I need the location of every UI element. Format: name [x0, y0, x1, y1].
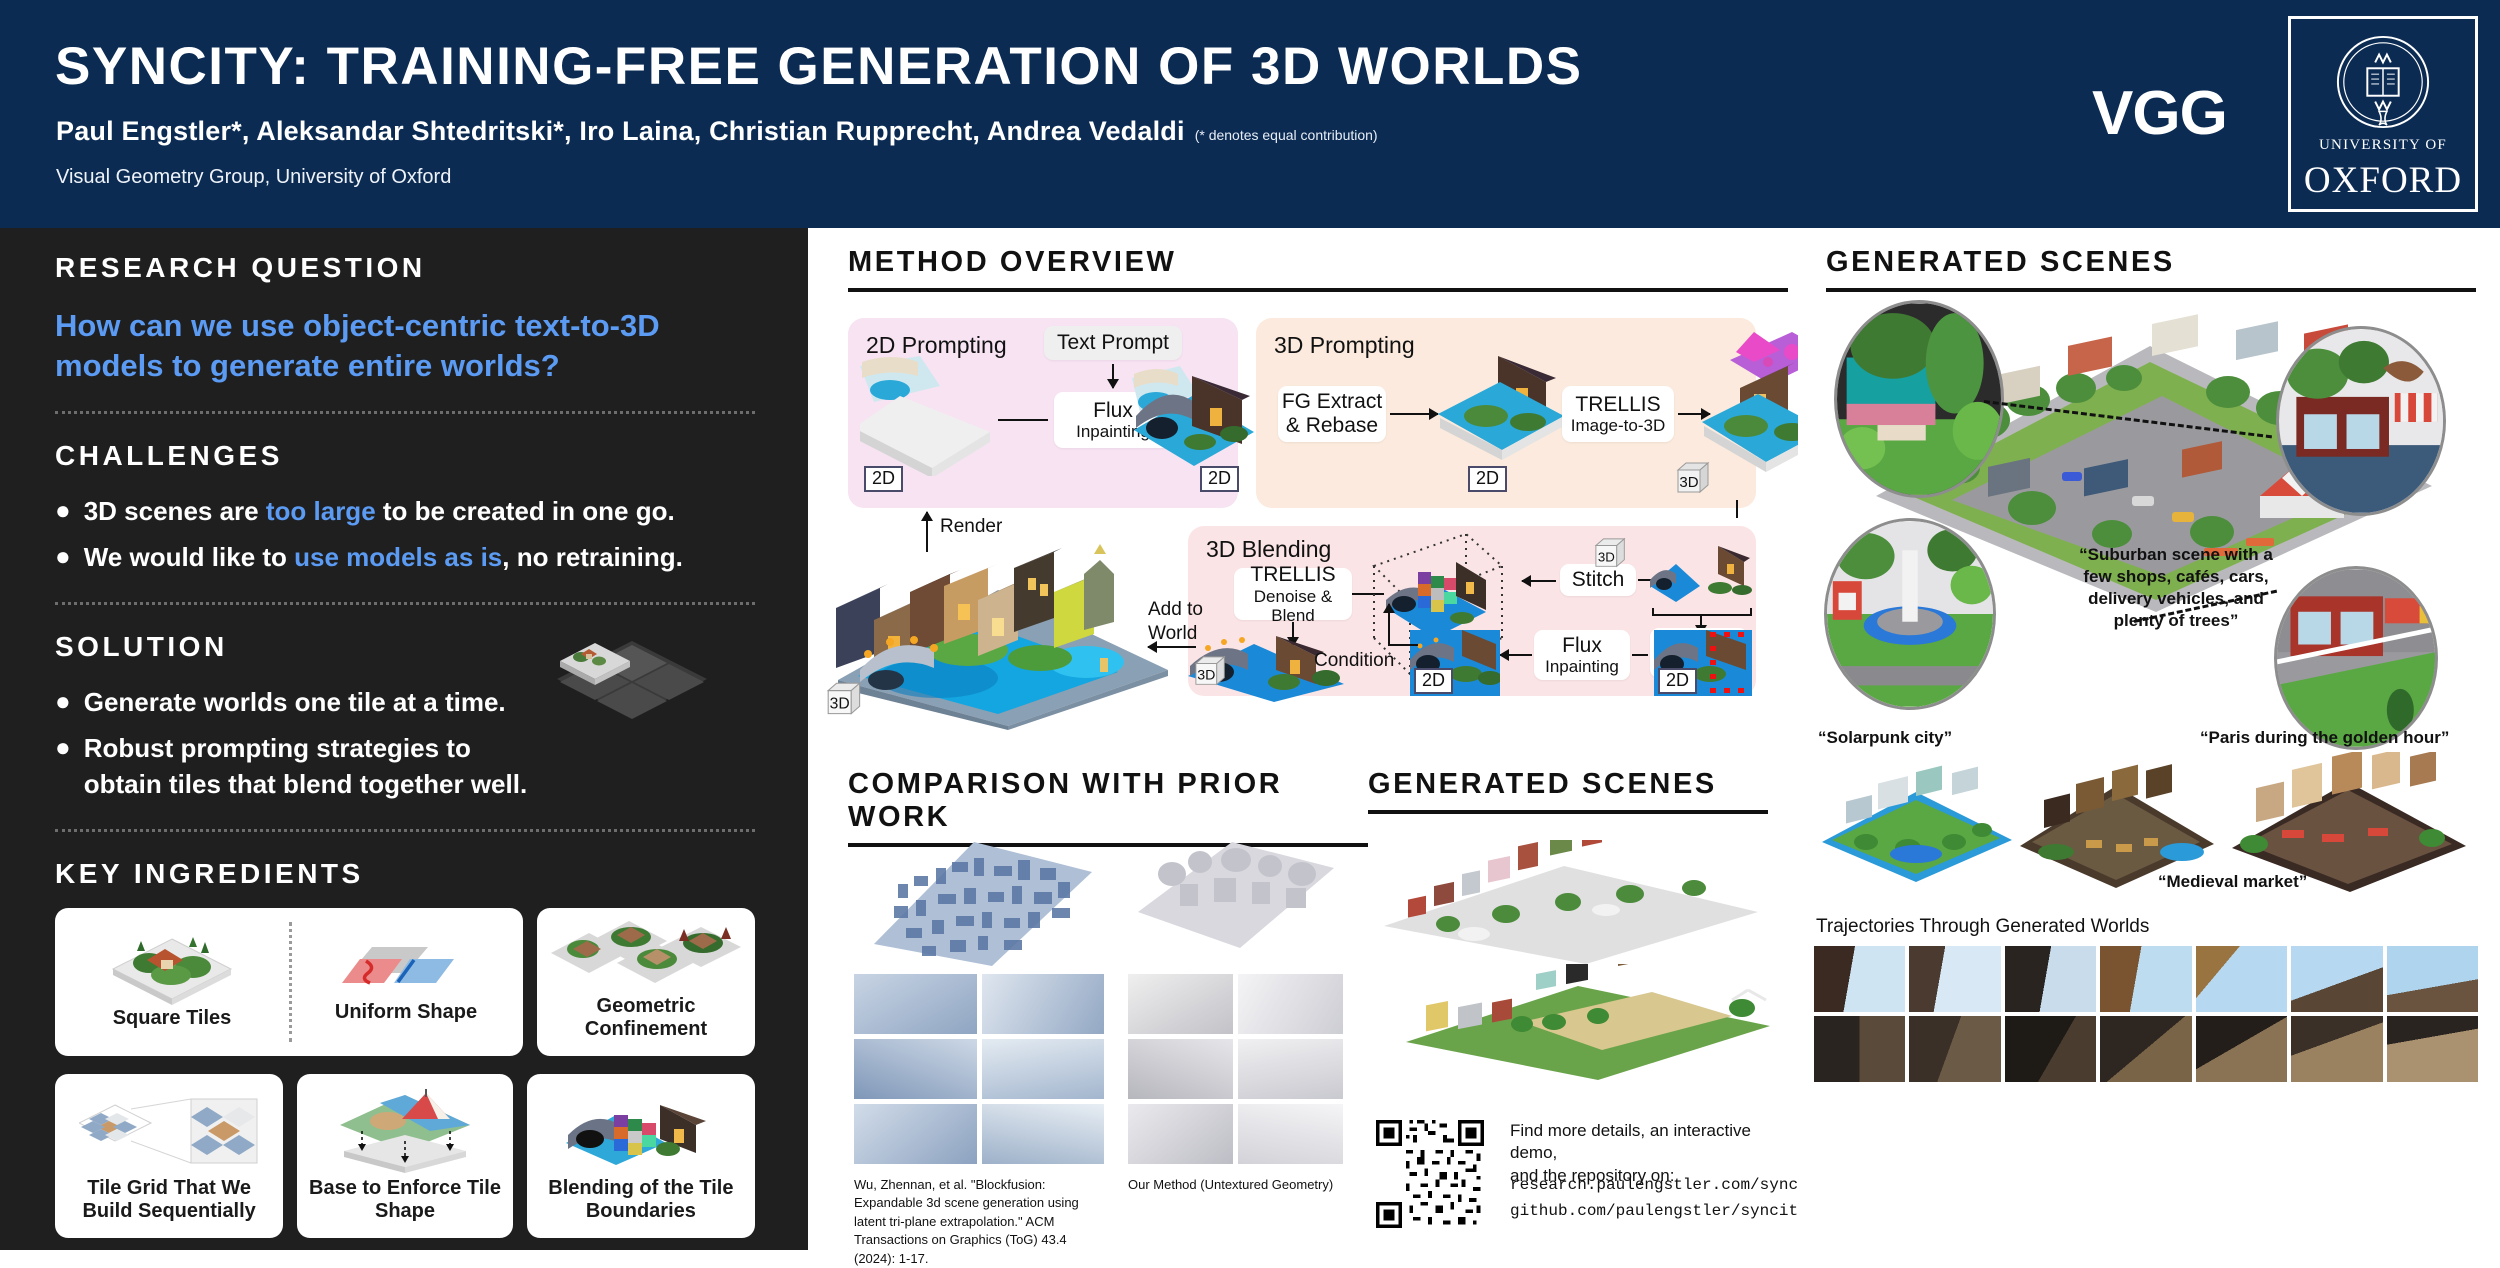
badge-3d-cube-icon: 3D — [824, 680, 868, 720]
oxford-university-label: UNIVERSITY OF — [2291, 137, 2475, 154]
tile-grid-thumbnail-icon — [537, 631, 727, 736]
generated-town-strip-art-2 — [1402, 964, 1782, 1084]
empty-tile-art — [860, 356, 1010, 476]
trellis-line2: Image-to-3D — [1571, 416, 1665, 435]
add-to-world-line2: World — [1148, 622, 1203, 646]
solution-text: Generate worlds one tile at a time. — [84, 685, 506, 721]
comparison-thumb — [1128, 1039, 1233, 1099]
trajectory-frame — [2005, 946, 2096, 1012]
add-to-world-label: Add to World — [1148, 598, 1203, 646]
research-question-line-1: How can we use object-centric text-to-3D — [55, 306, 755, 346]
challenge-item: ● We would like to use models as is, no … — [55, 540, 755, 576]
ingredient-card-base-enforce[interactable]: Base to Enforce Tile Shape — [297, 1074, 513, 1238]
arrow-left-add-to-world — [1148, 646, 1196, 648]
connector-crop — [1736, 500, 1738, 518]
trajectory-frame — [2196, 1016, 2287, 1082]
add-to-world-line1: Add to — [1148, 598, 1203, 622]
bracket-line — [1652, 614, 1752, 616]
left-column: RESEARCH QUESTION How can we use object-… — [0, 228, 808, 1250]
blending-boundaries-icon — [556, 1091, 726, 1171]
fg-extract-line2: & Rebase — [1286, 414, 1378, 438]
ingredients-row-2: Tile Grid That We Build Sequentially — [55, 1074, 755, 1238]
ingredient-card-geometric-confinement[interactable]: Geometric Confinement — [537, 908, 755, 1056]
challenge-text-highlight: too large — [266, 496, 376, 526]
shop-closeup-art — [2279, 329, 2443, 513]
ingredients-row-1: Square Tiles Uniform Shape — [55, 908, 755, 1056]
geometric-confinement-icon — [551, 913, 741, 995]
flux-inpainting-chip-blend: Flux Inpainting — [1534, 630, 1630, 680]
flux-blend-line1: Flux — [1562, 634, 1602, 658]
arrow-up-condition — [1388, 604, 1390, 646]
arrow-right-fg — [1390, 413, 1438, 415]
oxford-crest-icon — [2334, 33, 2432, 131]
comparison-thumb — [854, 974, 977, 1034]
tile-grid-icon — [79, 1091, 259, 1171]
connector-line — [1388, 644, 1418, 646]
qr-code-icon[interactable] — [1376, 1120, 1484, 1228]
ingredient-label: Uniform Shape — [335, 1001, 477, 1025]
arrow-left-flux — [1500, 654, 1532, 656]
divider — [55, 411, 755, 414]
bullet-icon: ● — [55, 685, 71, 721]
find-more-line1: Find more details, an interactive demo, — [1510, 1120, 1790, 1165]
poster-root: SYNCITY: TRAINING-FREE GENERATION OF 3D … — [0, 0, 2500, 1250]
research-question-line-2: models to generate entire worlds? — [55, 346, 755, 386]
badge-3d-cube-icon: 3D — [1192, 654, 1232, 690]
method-overview-heading: METHOD OVERVIEW — [848, 246, 1788, 279]
right-column: GENERATED SCENES — [1798, 228, 2500, 1250]
rebased-tile-art — [1432, 352, 1572, 482]
arrow-down-to-flux — [1112, 364, 1114, 388]
ingredient-label: Square Tiles — [113, 1007, 232, 1031]
comparison-thumb — [1238, 1039, 1343, 1099]
comparison-thumb — [1238, 1104, 1343, 1164]
callout-oval-cafe — [1834, 300, 2004, 498]
arrow-left-stitch — [1522, 580, 1556, 582]
badge-2d-condition: 2D — [1414, 668, 1453, 694]
trajectory-frame-grid — [1814, 946, 2478, 1082]
challenge-text-pre: We would like to — [84, 542, 294, 572]
panel-3d-prompting: 3D Prompting FG Extract & Rebase 2D TREL… — [1256, 318, 1756, 508]
fountain-closeup-art — [1827, 521, 1993, 707]
trajectory-frame — [2387, 946, 2478, 1012]
challenge-text-post: to be created in one go. — [376, 496, 675, 526]
challenge-item: ● 3D scenes are too large to be created … — [55, 494, 755, 530]
badge-3d-cube-icon: 3D — [1674, 460, 1716, 498]
badge-2d-rebased: 2D — [1468, 466, 1507, 492]
affiliation: Visual Geometry Group, University of Oxf… — [56, 166, 451, 189]
panel-3d-blending: 3D Blending TRELLIS Denoise & Blend — [1188, 526, 1756, 696]
comparison-grid-right — [1128, 974, 1343, 1164]
world-scene-art — [818, 530, 1188, 730]
bullet-icon: ● — [55, 540, 71, 576]
page-title: SYNCITY: TRAINING-FREE GENERATION OF 3D … — [55, 40, 1582, 93]
comparison-thumb — [854, 1039, 977, 1099]
challenges-heading: CHALLENGES — [55, 440, 755, 472]
trajectory-frame — [2100, 1016, 2191, 1082]
cafe-closeup-art — [1837, 303, 2001, 495]
trellis-denoise-blend-chip: TRELLIS Denoise & Blend — [1234, 568, 1352, 620]
stitch-inputs-art — [1648, 542, 1754, 616]
challenge-text-pre: 3D scenes are — [84, 496, 266, 526]
trajectories-title: Trajectories Through Generated Worlds — [1816, 916, 2149, 938]
badge-2d-input: 2D — [864, 466, 903, 492]
blockfusion-scene-art — [854, 832, 1104, 972]
github-repo-link[interactable]: github.com/paulengstler/syncity — [1510, 1202, 1808, 1220]
ingredient-label: Tile Grid That We Build Sequentially — [65, 1177, 273, 1224]
trajectory-frame — [2100, 946, 2191, 1012]
card-art — [537, 1086, 745, 1177]
research-question-text: How can we use object-centric text-to-3D… — [55, 306, 755, 385]
bracket-tick — [1652, 608, 1654, 616]
section-rule — [848, 288, 1788, 292]
poster-header: SYNCITY: TRAINING-FREE GENERATION OF 3D … — [0, 0, 2500, 228]
trajectory-frame — [2291, 946, 2382, 1012]
solution-text: Robust prompting strategies to obtain ti… — [84, 731, 535, 803]
trajectory-frame — [2291, 1016, 2382, 1082]
challenge-text-highlight: use models as is — [294, 542, 502, 572]
svg-text:3D: 3D — [1197, 668, 1215, 684]
comparison-thumb — [1128, 974, 1233, 1034]
card-art — [547, 913, 745, 995]
connector-line — [1632, 654, 1648, 656]
comparison-heading: COMPARISON WITH PRIOR WORK — [848, 768, 1368, 834]
badge-2d-masked: 2D — [1658, 668, 1697, 694]
bullet-icon: ● — [55, 731, 71, 803]
ingredient-label: Base to Enforce Tile Shape — [307, 1177, 503, 1224]
uniform-shape-icon — [336, 939, 476, 1001]
trajectory-frame — [1909, 946, 2000, 1012]
panel-2d-title: 2D Prompting — [866, 332, 1007, 359]
ingredient-card-tile-grid[interactable]: Tile Grid That We Build Sequentially — [55, 1074, 283, 1238]
middle-column: METHOD OVERVIEW 2D Prompting Text Prompt… — [808, 228, 1798, 1250]
comparison-thumb — [982, 1039, 1105, 1099]
comparison-citation-left: Wu, Zhennan, et al. "Blockfusion: Expand… — [854, 1176, 1104, 1268]
panel-blend-title: 3D Blending — [1206, 536, 1331, 563]
solution-item: ● Generate worlds one tile at a time. — [55, 685, 535, 721]
flux-blend-line2: Inpainting — [1545, 657, 1619, 676]
panel-3d-title: 3D Prompting — [1274, 332, 1415, 359]
trellis-blend-line1: TRELLIS — [1250, 563, 1335, 587]
card-divider — [289, 922, 292, 1042]
solarpunk-scene-art — [1812, 758, 2022, 888]
medieval-caption: “Medieval market” — [2158, 872, 2307, 892]
svg-text:3D: 3D — [830, 695, 850, 712]
comparison-grid-left — [854, 974, 1104, 1164]
oxford-wordmark: OXFORD — [2291, 159, 2475, 202]
trajectory-frame — [2387, 1016, 2478, 1082]
ingredient-card-square-tiles[interactable]: Square Tiles Uniform Shape — [55, 908, 523, 1056]
fg-extract-chip: FG Extract & Rebase — [1278, 386, 1386, 442]
our-method-geometry-art — [1128, 828, 1343, 958]
equal-contribution-note: (* denotes equal contribution) — [1195, 127, 1378, 143]
trajectory-frame — [1814, 946, 1905, 1012]
callout-oval-delivery — [2274, 566, 2438, 750]
trajectory-frame — [1814, 1016, 1905, 1082]
author-names: Paul Engstler*, Aleksandar Shtedritski*,… — [56, 116, 1185, 146]
generated-scenes-mid-heading: GENERATED SCENES — [1368, 768, 1768, 801]
section-rule — [1826, 288, 2476, 292]
ingredient-label: Geometric Confinement — [547, 995, 745, 1042]
solarpunk-caption: “Solarpunk city” — [1818, 728, 1952, 748]
svg-text:3D: 3D — [1679, 474, 1698, 491]
comparison-thumb — [1238, 974, 1343, 1034]
paris-caption: “Paris during the golden hour” — [2200, 728, 2449, 748]
oxford-logo: UNIVERSITY OF OXFORD — [2288, 16, 2478, 212]
key-ingredients-heading: KEY INGREDIENTS — [55, 858, 755, 890]
tile-render-2d-art — [1130, 346, 1260, 496]
suburban-caption: “Suburban scene with a few shops, cafés,… — [2070, 544, 2282, 632]
delivery-closeup-art — [2277, 569, 2435, 747]
base-enforce-icon — [330, 1089, 480, 1173]
comparison-thumb — [854, 1104, 977, 1164]
trajectory-frame — [2196, 946, 2287, 1012]
condition-label: Condition — [1314, 650, 1394, 672]
solution-item: ● Robust prompting strategies to obtain … — [55, 731, 535, 803]
trajectory-frame — [1909, 1016, 2000, 1082]
project-website-link[interactable]: research.paulengstler.com/syncity — [1510, 1176, 1827, 1194]
author-list: Paul Engstler*, Aleksandar Shtedritski*,… — [56, 116, 1378, 147]
section-rule — [1368, 810, 1768, 814]
divider — [55, 602, 755, 605]
ingredient-label: Blending of the Tile Boundaries — [537, 1177, 745, 1224]
challenge-text-post: , no retraining. — [502, 542, 683, 572]
trajectory-frame — [2005, 1016, 2096, 1082]
comparison-caption-right: Our Method (Untextured Geometry) — [1128, 1176, 1343, 1194]
research-question-heading: RESEARCH QUESTION — [55, 252, 755, 284]
generated-town-strip-art-1 — [1378, 840, 1768, 970]
badge-3d-cube-icon: 3D — [1592, 536, 1632, 572]
comparison-thumb — [982, 974, 1105, 1034]
divider — [55, 829, 755, 832]
callout-oval-fountain — [1824, 518, 1996, 710]
bullet-icon: ● — [55, 494, 71, 530]
generated-scenes-right-heading: GENERATED SCENES — [1826, 246, 2476, 279]
vgg-logo: VGG — [2092, 78, 2227, 149]
trellis-line1: TRELLIS — [1575, 393, 1660, 417]
card-art — [307, 1086, 503, 1177]
svg-text:3D: 3D — [1598, 550, 1615, 565]
comparison-thumb — [982, 1104, 1105, 1164]
card-art — [65, 1086, 273, 1177]
ingredient-card-blending-boundaries[interactable]: Blending of the Tile Boundaries — [527, 1074, 755, 1238]
square-tile-icon — [107, 933, 237, 1007]
callout-oval-shop — [2276, 326, 2446, 516]
trellis-blend-line2: Denoise & Blend — [1234, 587, 1352, 625]
trellis-image-to-3d-chip: TRELLIS Image-to-3D — [1562, 386, 1674, 442]
flux-label-line1: Flux — [1093, 399, 1133, 423]
fg-extract-line1: FG Extract — [1282, 390, 1382, 414]
bracket-tick — [1750, 608, 1752, 616]
comparison-thumb — [1128, 1104, 1233, 1164]
